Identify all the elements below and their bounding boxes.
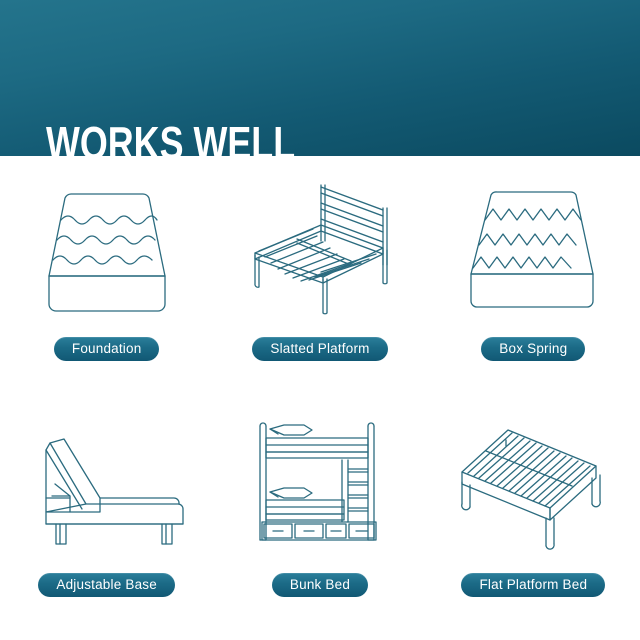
slatted-platform-bed-icon [225,168,415,333]
base-card-adjustable-base[interactable]: Adjustable Base [0,398,213,640]
page-title: WORKS WELL WITH THESE BASES [46,26,401,156]
base-label-bunk-bed: Bunk Bed [272,573,368,597]
page-title-line-1: WORKS WELL [46,120,401,156]
base-card-box-spring[interactable]: Box Spring [427,156,640,398]
base-label-box-spring: Box Spring [481,337,585,361]
base-card-slatted-platform[interactable]: Slatted Platform [213,156,426,398]
adjustable-base-icon [12,404,202,569]
infographic-page: WORKS WELL WITH THESE BASES [0,0,640,640]
foundation-mattress-icon [12,168,202,333]
box-spring-icon [438,168,628,333]
base-card-foundation[interactable]: Foundation [0,156,213,398]
base-label-adjustable-base: Adjustable Base [38,573,175,597]
base-card-bunk-bed[interactable]: Bunk Bed [213,398,426,640]
base-label-foundation: Foundation [54,337,160,361]
flat-platform-bed-icon [438,404,628,569]
base-label-flat-platform-bed: Flat Platform Bed [461,573,605,597]
base-label-slatted-platform: Slatted Platform [252,337,387,361]
bunk-bed-icon [225,404,415,569]
base-card-flat-platform-bed[interactable]: Flat Platform Bed [427,398,640,640]
bases-grid: Foundation [0,156,640,640]
header-banner: WORKS WELL WITH THESE BASES [0,0,640,156]
